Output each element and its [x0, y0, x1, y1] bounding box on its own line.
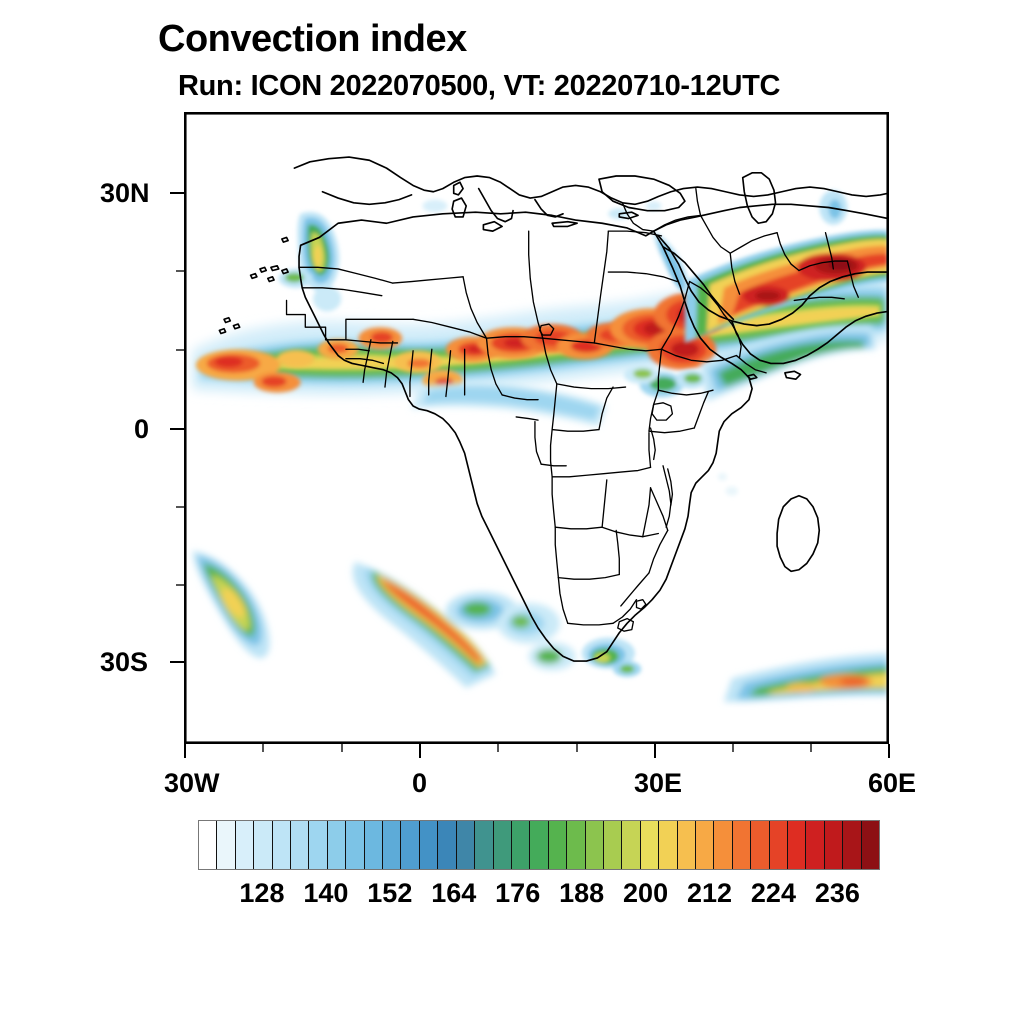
colorbar-tick-label-236: 236	[807, 878, 867, 909]
colorbar-band-11	[401, 821, 419, 869]
colorbar-band-17	[512, 821, 530, 869]
map-canvas	[185, 113, 888, 743]
x-minor-tick	[576, 744, 578, 752]
y-axis-label-30s: 30S	[100, 647, 148, 678]
colorbar-band-29	[733, 821, 751, 869]
colorbar-band-14	[457, 821, 475, 869]
colorbar-tick-label-176: 176	[488, 878, 548, 909]
colorbar-band-22	[604, 821, 622, 869]
colorbar-band-18	[530, 821, 548, 869]
y-axis-label-30n: 30N	[100, 178, 150, 209]
colorbar-band-8	[346, 821, 364, 869]
colorbar-band-33	[806, 821, 824, 869]
colorbar-band-9	[365, 821, 383, 869]
colorbar-band-2	[236, 821, 254, 869]
x-major-tick-30e	[654, 744, 656, 758]
x-minor-tick	[810, 744, 812, 752]
colorbar-band-0	[199, 821, 217, 869]
y-minor-tick	[176, 270, 184, 272]
colorbar-band-23	[622, 821, 640, 869]
colorbar-band-20	[567, 821, 585, 869]
colorbar-band-27	[696, 821, 714, 869]
convection-index-figure: Convection index Run: ICON 2022070500, V…	[0, 0, 1024, 1024]
colorbar-band-5	[291, 821, 309, 869]
colorbar-band-10	[383, 821, 401, 869]
colorbar-tick-label-212: 212	[680, 878, 740, 909]
y-minor-tick	[176, 506, 184, 508]
colorbar-band-34	[825, 821, 843, 869]
x-axis-label-30w: 30W	[164, 768, 220, 799]
y-minor-tick	[176, 349, 184, 351]
colorbar-band-13	[438, 821, 456, 869]
y-major-tick-30s	[170, 661, 184, 663]
x-minor-tick	[732, 744, 734, 752]
colorbar-band-16	[494, 821, 512, 869]
x-axis-label-60e: 60E	[868, 768, 916, 799]
y-major-tick-30n	[170, 192, 184, 194]
colorbar-band-24	[641, 821, 659, 869]
colorbar-band-26	[678, 821, 696, 869]
y-axis-label-0: 0	[134, 414, 149, 445]
colorbar-band-32	[788, 821, 806, 869]
colorbar-tick-label-188: 188	[552, 878, 612, 909]
colorbar-band-19	[549, 821, 567, 869]
colorbar-band-36	[862, 821, 879, 869]
colorbar-tick-label-140: 140	[296, 878, 356, 909]
colorbar-tick-label-152: 152	[360, 878, 420, 909]
y-minor-tick	[176, 584, 184, 586]
colorbar-band-12	[420, 821, 438, 869]
x-minor-tick	[497, 744, 499, 752]
page-subtitle: Run: ICON 2022070500, VT: 20220710-12UTC	[178, 70, 780, 103]
colorbar-band-7	[328, 821, 346, 869]
colorbar-band-28	[714, 821, 732, 869]
colorbar-band-35	[843, 821, 861, 869]
colorbar-tick-label-224: 224	[743, 878, 803, 909]
colorbar-tick-label-128: 128	[232, 878, 292, 909]
colorbar-band-6	[309, 821, 327, 869]
colorbar-band-21	[586, 821, 604, 869]
y-major-tick-0	[170, 428, 184, 430]
x-major-tick-30w	[184, 744, 186, 758]
colorbar-band-4	[273, 821, 291, 869]
x-axis-label-30e: 30E	[634, 768, 682, 799]
x-major-tick-60e	[888, 744, 890, 758]
page-title: Convection index	[158, 18, 467, 61]
colorbar-tick-label-164: 164	[424, 878, 484, 909]
colorbar-tick-label-200: 200	[616, 878, 676, 909]
colorbar-band-15	[475, 821, 493, 869]
colorbar-band-3	[254, 821, 272, 869]
map-plot-area	[184, 112, 889, 744]
x-minor-tick	[341, 744, 343, 752]
colorbar	[198, 820, 880, 870]
x-minor-tick	[262, 744, 264, 752]
colorbar-band-31	[770, 821, 788, 869]
colorbar-band-1	[217, 821, 235, 869]
x-axis-label-0: 0	[412, 768, 427, 799]
colorbar-band-30	[751, 821, 769, 869]
colorbar-band-25	[659, 821, 677, 869]
x-major-tick-0	[419, 744, 421, 758]
